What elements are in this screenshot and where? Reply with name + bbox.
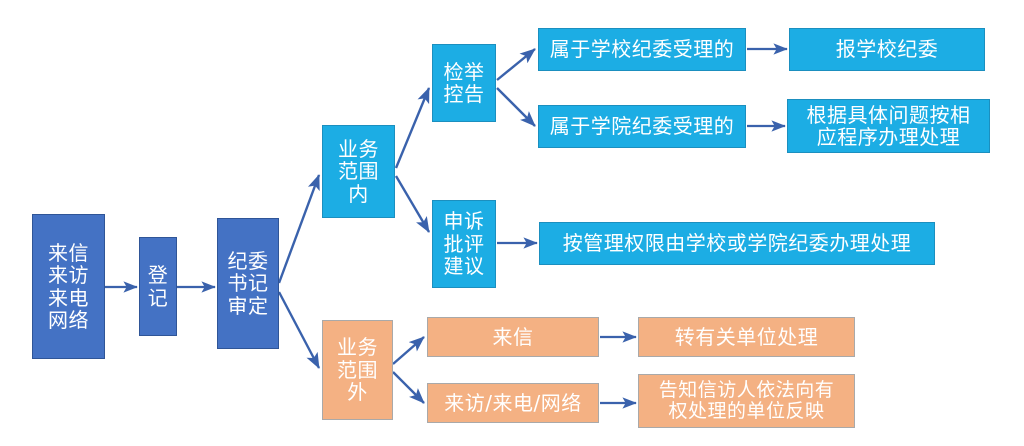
node-letter[interactable]: 来信 bbox=[427, 317, 599, 357]
edge-outscope-to-letter bbox=[393, 337, 424, 364]
node-forward-to-unit[interactable]: 转有关单位处理 bbox=[638, 317, 855, 357]
node-in-scope[interactable]: 业务 范围 内 bbox=[322, 125, 395, 218]
node-report-to-school[interactable]: 报学校纪委 bbox=[789, 28, 985, 71]
node-register[interactable]: 登记 bbox=[139, 237, 177, 336]
node-inform-petitioner[interactable]: 告知信访人依法向有 权处理的单位反映 bbox=[638, 374, 855, 428]
edge-review-to-outscope bbox=[279, 292, 319, 368]
node-appeal-criticism[interactable]: 申诉 批评 建议 bbox=[432, 200, 496, 288]
node-report-accusation[interactable]: 检举 控告 bbox=[432, 44, 496, 122]
node-intake-sources[interactable]: 来信 来访 来电 网络 bbox=[32, 214, 105, 359]
node-college-discipline-case[interactable]: 属于学院纪委受理的 bbox=[538, 105, 746, 148]
edge-inscope-to-appeal bbox=[396, 176, 429, 232]
node-secretary-review[interactable]: 纪委书记 审定 bbox=[217, 218, 279, 349]
node-out-scope[interactable]: 业务 范围 外 bbox=[322, 320, 393, 420]
node-handle-by-authority[interactable]: 按管理权限由学校或学院纪委办理处理 bbox=[539, 222, 935, 265]
node-visit-call-network[interactable]: 来访/来电/网络 bbox=[427, 383, 599, 423]
node-handle-by-procedure[interactable]: 根据具体问题按相 应程序办理处理 bbox=[787, 99, 990, 153]
edge-review-to-inscope bbox=[279, 175, 319, 283]
node-school-discipline-case[interactable]: 属于学校纪委受理的 bbox=[538, 28, 746, 71]
flowchart-canvas: 来信 来访 来电 网络 登记 纪委书记 审定 业务 范围 内 检举 控告 申诉 … bbox=[0, 0, 1024, 446]
edge-inscope-to-report bbox=[396, 88, 429, 168]
edge-report-to-schoolcase bbox=[497, 49, 535, 80]
edge-report-to-collegecase bbox=[497, 88, 535, 126]
edge-outscope-to-visitcall bbox=[393, 372, 424, 403]
